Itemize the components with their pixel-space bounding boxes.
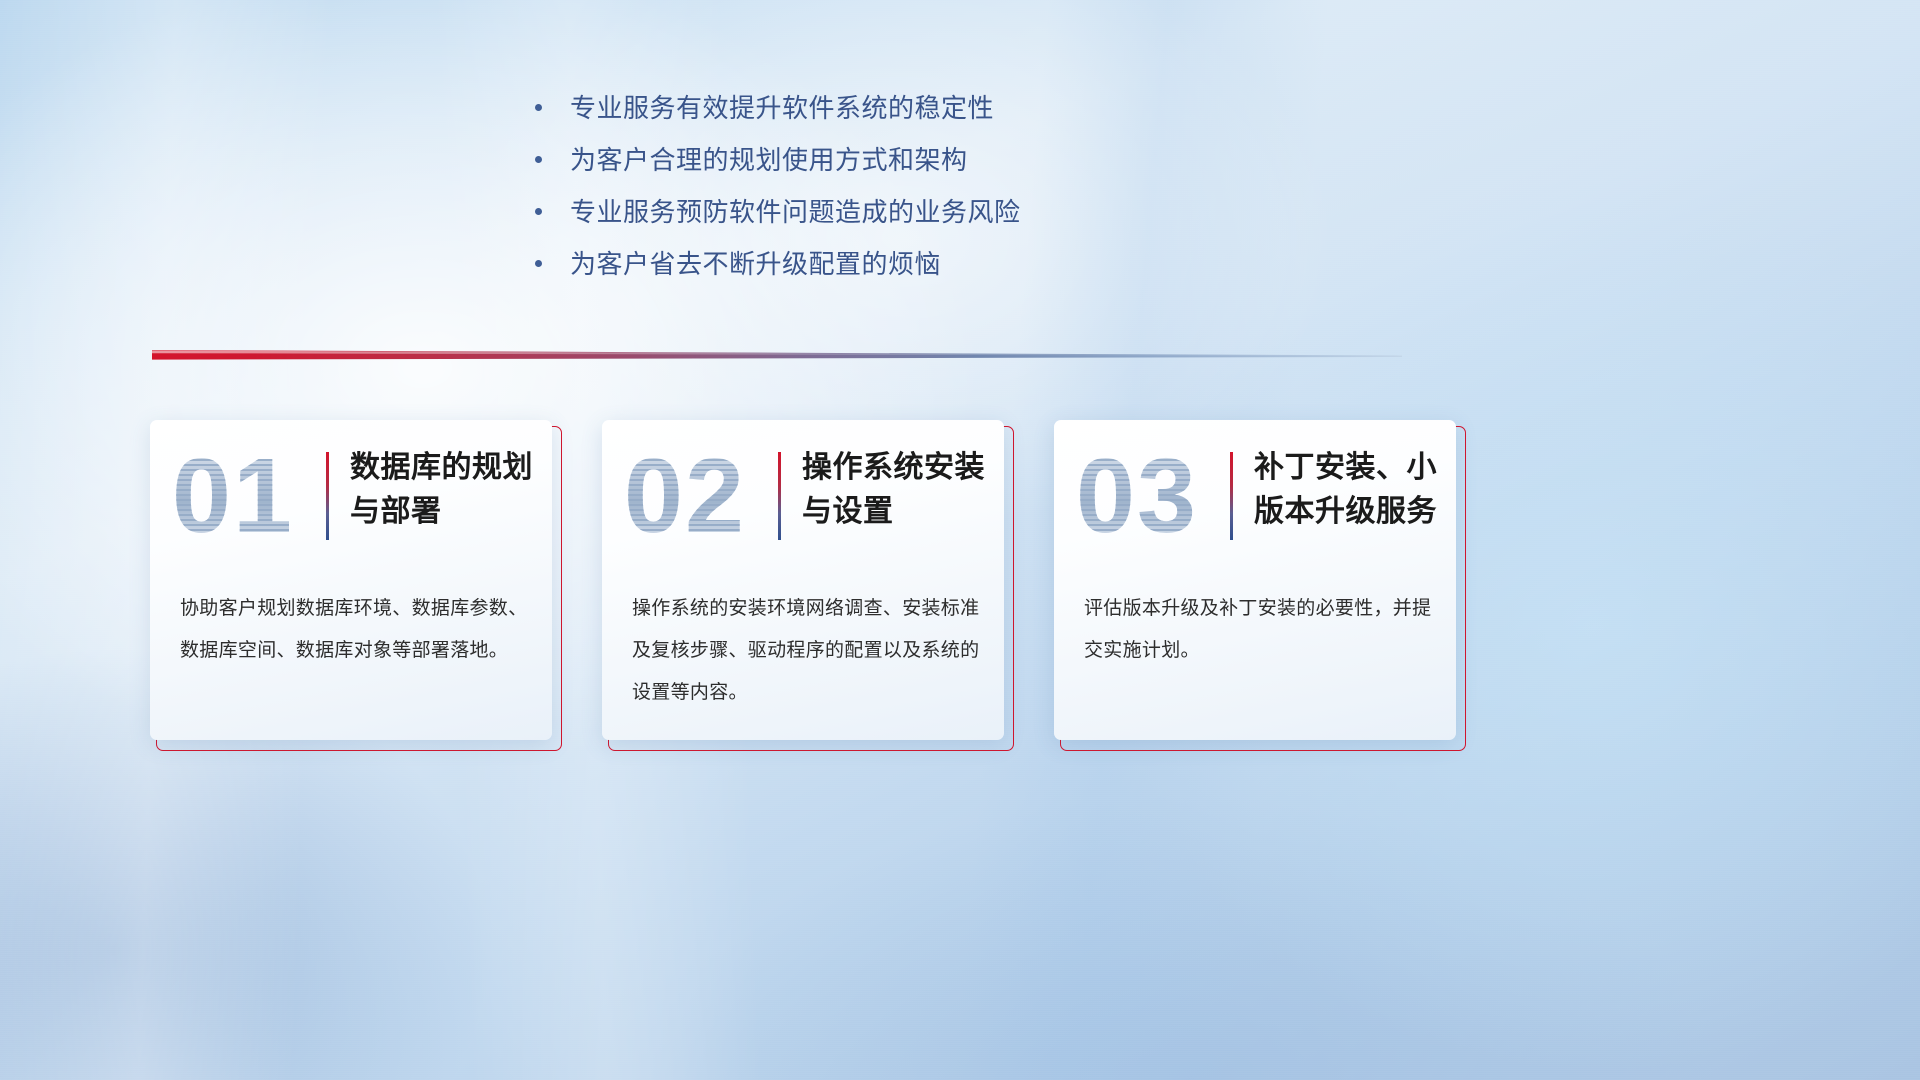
card-title: 数据库的规划与部署 [350,446,540,534]
card-title: 操作系统安装与设置 [802,446,992,534]
bullet-dot-icon [535,260,542,267]
list-item: 专业服务有效提升软件系统的稳定性 [535,92,1295,124]
card-surface: 02 操作系统安装与设置 操作系统的安装环境网络调查、安装标准及复核步骤、驱动程… [602,420,1004,740]
card-header: 03 补丁安装、小版本升级服务 [1054,420,1456,572]
bullet-text: 专业服务预防软件问题造成的业务风险 [570,196,1021,228]
bullet-dot-icon [535,156,542,163]
card-surface: 03 补丁安装、小版本升级服务 评估版本升级及补丁安装的必要性，并提交实施计划。 [1054,420,1456,740]
card-vertical-rule [778,452,781,540]
slide-canvas: 专业服务有效提升软件系统的稳定性 为客户合理的规划使用方式和架构 专业服务预防软… [0,0,1920,1080]
service-card[interactable]: 01 数据库的规划与部署 协助客户规划数据库环境、数据库参数、数据库空间、数据库… [150,420,556,745]
card-number-watermark: 01 [172,436,308,556]
card-vertical-rule [1230,452,1233,540]
card-description: 操作系统的安装环境网络调查、安装标准及复核步骤、驱动程序的配置以及系统的设置等内… [632,588,980,714]
card-vertical-rule [326,452,329,540]
card-number-watermark: 03 [1076,436,1212,556]
section-divider [152,348,1402,364]
card-header: 01 数据库的规划与部署 [150,420,552,572]
card-description: 评估版本升级及补丁安装的必要性，并提交实施计划。 [1084,588,1432,672]
service-card-row: 01 数据库的规划与部署 协助客户规划数据库环境、数据库参数、数据库空间、数据库… [150,420,1460,750]
card-surface: 01 数据库的规划与部署 协助客户规划数据库环境、数据库参数、数据库空间、数据库… [150,420,552,740]
service-card[interactable]: 03 补丁安装、小版本升级服务 评估版本升级及补丁安装的必要性，并提交实施计划。 [1054,420,1460,745]
list-item: 专业服务预防软件问题造成的业务风险 [535,196,1295,228]
bullet-dot-icon [535,104,542,111]
card-title: 补丁安装、小版本升级服务 [1254,446,1444,534]
bullet-text: 为客户省去不断升级配置的烦恼 [570,248,941,280]
bullet-dot-icon [535,208,542,215]
card-header: 02 操作系统安装与设置 [602,420,1004,572]
list-item: 为客户省去不断升级配置的烦恼 [535,248,1295,280]
list-item: 为客户合理的规划使用方式和架构 [535,144,1295,176]
benefits-bullet-list: 专业服务有效提升软件系统的稳定性 为客户合理的规划使用方式和架构 专业服务预防软… [535,92,1295,300]
service-card[interactable]: 02 操作系统安装与设置 操作系统的安装环境网络调查、安装标准及复核步骤、驱动程… [602,420,1008,745]
card-number-watermark: 02 [624,436,760,556]
card-description: 协助客户规划数据库环境、数据库参数、数据库空间、数据库对象等部署落地。 [180,588,528,672]
bullet-text: 为客户合理的规划使用方式和架构 [570,144,968,176]
bullet-text: 专业服务有效提升软件系统的稳定性 [570,92,994,124]
